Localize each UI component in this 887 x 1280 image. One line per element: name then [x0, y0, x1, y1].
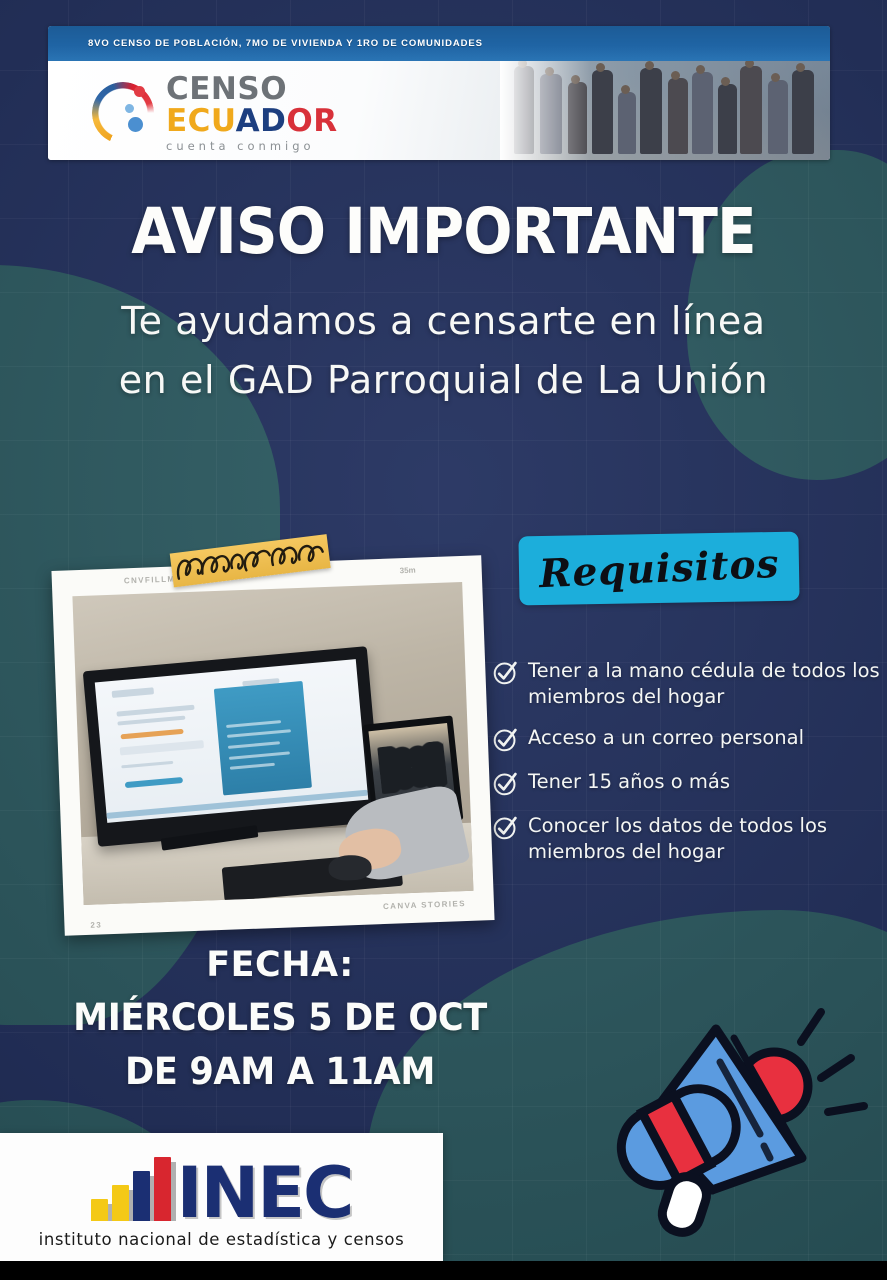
- photo-label-bottom-right: CANVA STORIES: [383, 899, 466, 911]
- list-item: Tener a la mano cédula de todos los miem…: [492, 658, 887, 709]
- inec-bar-chart-icon: [91, 1153, 173, 1221]
- check-circle-icon: [492, 726, 519, 753]
- list-item: Conocer los datos de todos los miembros …: [492, 813, 887, 864]
- list-item-label: Conocer los datos de todos los miembros …: [528, 813, 887, 864]
- photo-label-top-right: 35m: [400, 566, 416, 576]
- fecha-time: DE 9AM A 11AM: [62, 1050, 499, 1093]
- photo-label-bottom-left: 23: [90, 920, 102, 929]
- requisitos-list: Tener a la mano cédula de todos los miem…: [492, 658, 887, 881]
- inec-logo: INEC instituto nacional de estadística y…: [0, 1133, 443, 1261]
- banner-title-strip: 8VO CENSO DE POBLACIÓN, 7MO DE VIVIENDA …: [48, 26, 830, 61]
- inec-logo-row: INEC: [0, 1147, 443, 1221]
- banner-strip-text: 8VO CENSO DE POBLACIÓN, 7MO DE VIVIENDA …: [88, 38, 483, 49]
- photo-image-computer-census: [72, 582, 473, 905]
- fecha-date: MIÉRCOLES 5 DE OCT: [62, 996, 499, 1039]
- logo-ad: AD: [236, 103, 287, 139]
- monitor-census-panel: [214, 681, 312, 796]
- logo-tagline: cuenta conmigo: [166, 141, 338, 153]
- list-item-label: Acceso a un correo personal: [528, 725, 804, 753]
- inec-wordmark: INEC: [177, 1166, 353, 1221]
- list-item: Acceso a un correo personal: [492, 725, 887, 753]
- subtitle-line-1: Te ayudamos a censarte en línea: [0, 292, 887, 351]
- photo-card: CNVFILLM F7 1 35m CANVA STORIES 23: [51, 555, 494, 936]
- check-circle-icon: [492, 770, 519, 797]
- inec-tagline: instituto nacional de estadística y cens…: [0, 1230, 443, 1249]
- check-circle-icon: [492, 814, 519, 841]
- subtitle-line-2: en el GAD Parroquial de La Unión: [0, 351, 887, 410]
- logo-word-ecuador: ECUADOR: [166, 106, 338, 137]
- logo-ecu: ECU: [166, 103, 236, 139]
- check-circle-icon: [492, 659, 519, 686]
- list-item-label: Tener a la mano cédula de todos los miem…: [528, 658, 887, 709]
- megaphone-icon: [588, 1000, 878, 1240]
- requisitos-badge: Requisitos: [518, 532, 799, 606]
- logo-or: OR: [286, 103, 337, 139]
- requisitos-title: Requisitos: [538, 540, 780, 596]
- censo-swirl-icon: [92, 82, 154, 144]
- monitor: [82, 646, 381, 847]
- monitor-screen: [95, 659, 368, 823]
- censo-ecuador-banner: CENSO ECUADOR cuenta conmigo 8VO CENSO D…: [48, 26, 830, 160]
- censo-ecuador-logo: CENSO ECUADOR cuenta conmigo: [92, 74, 338, 153]
- page-subtitle: Te ayudamos a censarte en línea en el GA…: [0, 292, 887, 410]
- poster-canvas: CENSO ECUADOR cuenta conmigo 8VO CENSO D…: [0, 0, 887, 1280]
- bottom-letterbox: [0, 1261, 887, 1280]
- photo-frame: CNVFILLM F7 1 35m CANVA STORIES 23: [51, 555, 494, 936]
- list-item: Tener 15 años o más: [492, 769, 887, 797]
- logo-word-censo: CENSO: [166, 74, 338, 105]
- event-date-block: FECHA: MIÉRCOLES 5 DE OCT DE 9AM A 11AM: [50, 945, 510, 1093]
- page-title: AVISO IMPORTANTE: [35, 195, 851, 268]
- list-item-label: Tener 15 años o más: [528, 769, 730, 797]
- computer-mouse: [328, 854, 372, 880]
- fecha-label: FECHA:: [50, 945, 510, 985]
